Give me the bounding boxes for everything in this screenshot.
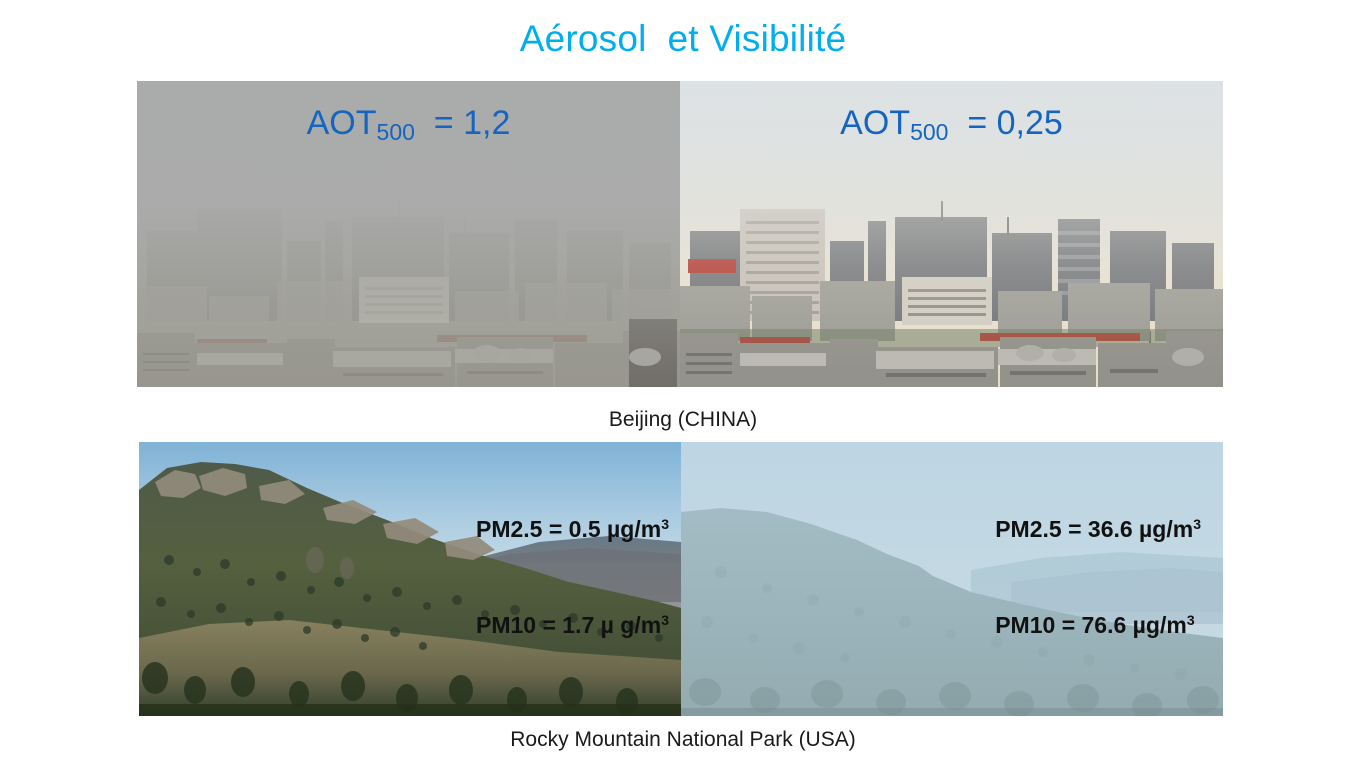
caption-beijing: Beijing (CHINA) — [0, 406, 1366, 433]
pm10-label: PM10 = 1.7 µ g/m — [476, 612, 661, 638]
pm10-line-hazy: PM10 = 76.6 µg/m3 — [995, 610, 1201, 644]
aot-subscript: 500 — [377, 119, 415, 145]
aot-text: AOT — [840, 104, 910, 142]
slide-root: Aérosol et Visibilité — [0, 0, 1366, 768]
pm-values-rocky-hazy: PM2.5 = 36.6 µg/m3 PM10 = 76.6 µg/m3 — [995, 452, 1201, 706]
pm10-superscript: 3 — [1187, 612, 1195, 628]
page-title: Aérosol et Visibilité — [0, 16, 1366, 62]
pm25-label: PM2.5 = 36.6 µg/m — [995, 516, 1193, 542]
pm25-line-clear: PM2.5 = 0.5 µg/m3 — [476, 514, 669, 548]
aot-value: = 0,25 — [948, 104, 1062, 142]
pm25-superscript: 3 — [661, 516, 669, 532]
aot-label-clear: AOT500 = 0,25 — [680, 103, 1223, 146]
photo-beijing-clear: AOT500 = 0,25 — [680, 81, 1223, 387]
photo-beijing-polluted: AOT500 = 1,2 — [137, 81, 680, 387]
aot-label-polluted: AOT500 = 1,2 — [137, 103, 680, 146]
pm10-label: PM10 = 76.6 µg/m — [995, 612, 1187, 638]
pm-values-rocky-clear: PM2.5 = 0.5 µg/m3 PM10 = 1.7 µ g/m3 — [476, 452, 669, 706]
caption-rocky-mountain: Rocky Mountain National Park (USA) — [0, 726, 1366, 753]
pm10-superscript: 3 — [661, 612, 669, 628]
pm25-superscript: 3 — [1193, 516, 1201, 532]
pm10-line-clear: PM10 = 1.7 µ g/m3 — [476, 610, 669, 644]
aot-value: = 1,2 — [415, 104, 510, 142]
pm25-label: PM2.5 = 0.5 µg/m — [476, 516, 661, 542]
aot-subscript: 500 — [910, 119, 948, 145]
photo-row-rocky: PM2.5 = 0.5 µg/m3 PM10 = 1.7 µ g/m3 — [139, 442, 1223, 716]
photo-rocky-clear: PM2.5 = 0.5 µg/m3 PM10 = 1.7 µ g/m3 — [139, 442, 681, 716]
aot-text: AOT — [307, 104, 377, 142]
photo-rocky-hazy: PM2.5 = 36.6 µg/m3 PM10 = 76.6 µg/m3 — [681, 442, 1223, 716]
photo-row-beijing: AOT500 = 1,2 — [137, 81, 1223, 387]
pm25-line-hazy: PM2.5 = 36.6 µg/m3 — [995, 514, 1201, 548]
